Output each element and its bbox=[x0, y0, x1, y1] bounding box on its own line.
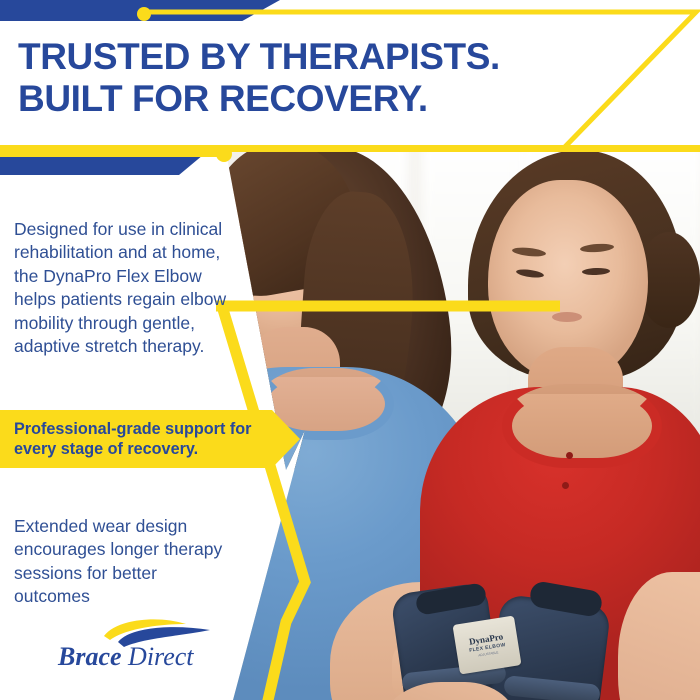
polo-button-2 bbox=[562, 482, 569, 489]
yellow-dot-middle-icon bbox=[216, 146, 232, 162]
brand-logo[interactable]: Brace Direct bbox=[58, 618, 248, 680]
polo-button-1 bbox=[566, 452, 573, 459]
headline-line-2: BUILT FOR RECOVERY. bbox=[18, 78, 578, 120]
highlight-banner: Professional-grade support for every sta… bbox=[0, 410, 300, 468]
therapist-polo-collar bbox=[502, 384, 662, 468]
brace-product-label: DynaPro FLEX ELBOW ADJUSTABLE bbox=[452, 615, 521, 674]
page-title: TRUSTED BY THERAPISTS. BUILT FOR RECOVER… bbox=[18, 36, 578, 120]
logo-word-brace: Brace bbox=[58, 642, 122, 671]
highlight-text: Professional-grade support for every sta… bbox=[14, 419, 272, 459]
body-paragraph-1: Designed for use in clinical rehabilitat… bbox=[14, 218, 242, 359]
body-paragraph-2: Extended wear design encourages longer t… bbox=[14, 515, 229, 609]
logo-wordmark: Brace Direct bbox=[58, 642, 258, 672]
yellow-dot-top-icon bbox=[137, 7, 151, 21]
logo-word-direct: Direct bbox=[122, 642, 194, 671]
promo-poster: DynaPro FLEX ELBOW ADJUSTABLE TRUSTED BY… bbox=[0, 0, 700, 700]
headline-line-1: TRUSTED BY THERAPISTS. bbox=[18, 36, 578, 78]
therapist-lips bbox=[552, 312, 582, 322]
